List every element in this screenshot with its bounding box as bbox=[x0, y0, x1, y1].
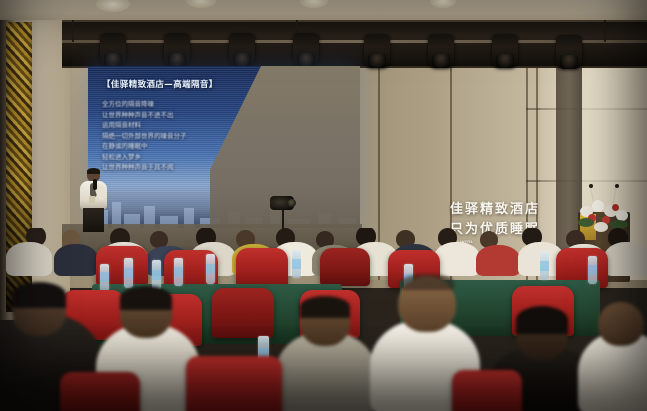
projected-line: 轻松进入梦乡 bbox=[102, 152, 252, 163]
audience-person bbox=[54, 244, 98, 276]
moving-head-light bbox=[364, 34, 390, 68]
projected-line: 隔绝一切外部世界的噪音分子 bbox=[102, 131, 252, 142]
red-chair-cover bbox=[186, 356, 282, 411]
projected-body: 全方位的隔音降噪 让世界种种声音不进不出 运用隔音材料 隔绝一切外部世界的噪音分… bbox=[102, 99, 252, 173]
red-chair-cover bbox=[60, 372, 140, 411]
conference-photo: 【佳驿精致酒店—高端隔音】 全方位的隔音降噪 让世界种种声音不进不出 运用隔音材… bbox=[0, 0, 647, 411]
bottle-label bbox=[152, 270, 161, 280]
audience-person bbox=[434, 242, 480, 276]
lectern-mic-head bbox=[589, 184, 593, 188]
bottle-label bbox=[124, 268, 133, 278]
bottle-label bbox=[206, 264, 215, 274]
projected-title: 【佳驿精致酒店—高端隔音】 bbox=[102, 80, 252, 90]
projected-line: 全方位的隔音降噪 bbox=[102, 99, 252, 110]
red-chair-cover bbox=[212, 288, 274, 338]
audience-person bbox=[6, 242, 52, 276]
audience-person bbox=[476, 245, 520, 276]
red-chair-cover bbox=[452, 370, 522, 411]
bottle-label bbox=[292, 259, 301, 269]
moving-head-light bbox=[229, 33, 255, 67]
flower-leaf bbox=[578, 218, 594, 227]
presenter bbox=[78, 168, 108, 230]
projected-line: 在静谧的睡眠中 bbox=[102, 141, 252, 152]
moving-head-light bbox=[293, 33, 319, 67]
projected-text-block: 【佳驿精致酒店—高端隔音】 全方位的隔音降噪 让世界种种声音不进不出 运用隔音材… bbox=[102, 80, 252, 173]
camera-lens-icon bbox=[288, 199, 296, 207]
truss-rod bbox=[72, 20, 74, 42]
moving-head-light bbox=[164, 33, 190, 67]
bottle-label bbox=[174, 267, 183, 277]
audience-hair bbox=[120, 286, 172, 310]
audience-head bbox=[598, 302, 644, 346]
truss-rod bbox=[604, 20, 606, 42]
flower-petal-red bbox=[612, 204, 619, 211]
moving-head-light bbox=[100, 33, 126, 67]
presenter-badge bbox=[89, 196, 95, 203]
audience-person bbox=[604, 242, 647, 276]
audience-hair bbox=[12, 282, 66, 308]
audience-area: 代表席 代表席 bbox=[0, 228, 647, 411]
bottle-label bbox=[540, 261, 549, 271]
projected-line: 让世界种种声音于耳不闻 bbox=[102, 162, 252, 173]
presenter-hair bbox=[87, 168, 100, 174]
flower-petal bbox=[592, 200, 604, 212]
audience-hair bbox=[516, 306, 568, 334]
projection-screen: 【佳驿精致酒店—高端隔音】 全方位的隔音降噪 让世界种种声音不进不出 运用隔音材… bbox=[88, 66, 360, 228]
red-chair-cover bbox=[320, 248, 370, 286]
microphone bbox=[93, 179, 97, 190]
projected-line: 让世界种种声音不进不出 bbox=[102, 110, 252, 121]
projected-line: 运用隔音材料 bbox=[102, 120, 252, 131]
moving-head-light bbox=[492, 34, 518, 68]
moving-head-light bbox=[428, 34, 454, 68]
bottle-label bbox=[100, 272, 109, 282]
audience-hair bbox=[400, 274, 454, 290]
audience-hair bbox=[300, 296, 350, 318]
red-chair-cover bbox=[236, 248, 288, 288]
bottle-label bbox=[588, 265, 597, 275]
lectern-mic-head bbox=[615, 184, 619, 188]
moving-head-light bbox=[556, 35, 582, 69]
